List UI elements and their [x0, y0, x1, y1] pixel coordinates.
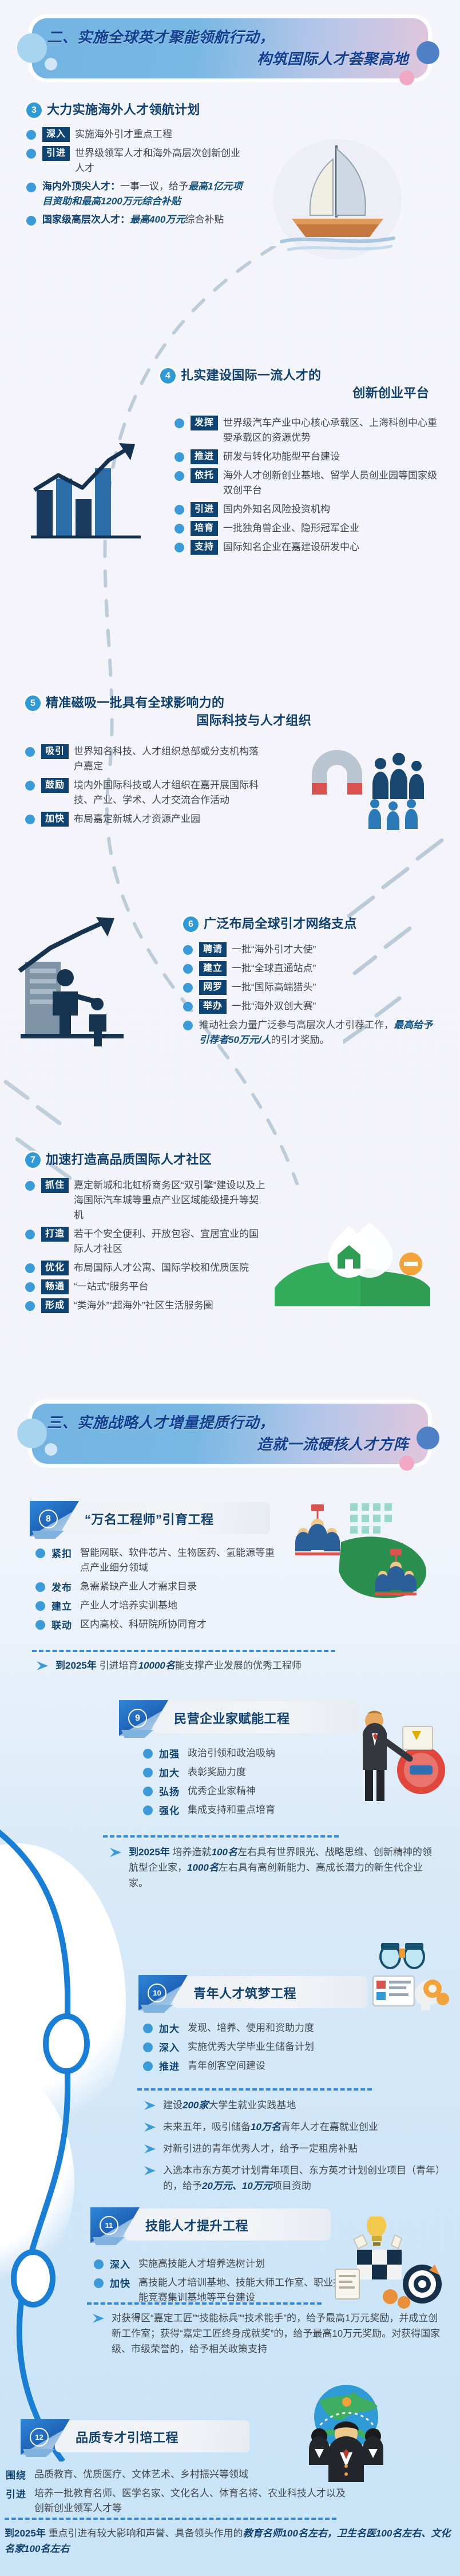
divider-dashed-11 — [87, 2302, 322, 2305]
rows-engineering-11: 深入 实施高技能人才培养选树计划 加快 高技能人才培训基地、技能大师工作室、职业… — [94, 2257, 351, 2309]
goal-tail: 项目资助 — [272, 2180, 311, 2191]
bullet-dot — [26, 183, 36, 192]
row-tag: 弘扬 — [159, 1784, 180, 1798]
row-tag: 加快 — [110, 2275, 130, 2290]
divider-dashed-8 — [32, 1650, 335, 1652]
goal-engineering-8: 到2025年 引进培育10000名能支撑产业发展的优秀工程师 — [35, 1658, 436, 1673]
row-tag: 深入 — [159, 2040, 180, 2054]
bullet-dot — [25, 1301, 35, 1311]
goal-engineering-9: 到2025年 培养造就100名左右具有世界眼光、战略思维、创新精神的领航型企业家… — [109, 1844, 441, 1891]
row-text: 区内高校、科研院所协同育才 — [80, 1617, 207, 1632]
heading-item-3: 3 大力实施海外人才领航计划 — [26, 101, 200, 118]
row-text: 表彰奖励力度 — [188, 1765, 246, 1780]
row-tag: 围绕 — [6, 2467, 26, 2482]
row-text: 实施优秀大学毕业生储备计划 — [188, 2040, 314, 2055]
chevron-right-icon — [143, 2143, 158, 2155]
row-tag: 聘请 — [199, 942, 227, 957]
engineering-number-11: 11 — [100, 2216, 118, 2235]
bullet-dot — [175, 543, 184, 552]
row-text: 一批“全球直通站点” — [232, 961, 316, 976]
chevron-right-icon — [109, 1847, 124, 1858]
divider-dashed-10 — [137, 2088, 372, 2091]
engineering-title-10: 青年人才筑梦工程 — [193, 1984, 296, 2002]
row-tag: 抓住 — [41, 1178, 69, 1193]
bullet-dot — [94, 2278, 104, 2288]
row-tag: 吸引 — [41, 744, 69, 759]
bullet-dot — [35, 1582, 45, 1592]
list-item: 引进 世界级领军人才和海外高层次创新创业人才 — [26, 146, 244, 176]
banner-dot-left — [17, 33, 47, 63]
goal-emphasis: 20万元、10万元 — [202, 2180, 272, 2191]
row-lead: 国家级高层次人才： — [42, 214, 130, 225]
row-tag: 建立 — [199, 961, 227, 976]
goal-emphasis: 10000名 — [138, 1660, 175, 1671]
chevron-right-icon — [143, 2100, 158, 2111]
row-body: 推动社会力量广泛参与高层次人才引荐工作， — [199, 1020, 394, 1030]
divider-dashed-9 — [103, 1835, 339, 1838]
row-tag: 推进 — [191, 449, 218, 464]
list-item: 推进 研发与转化功能型平台建设 — [175, 449, 438, 464]
row-text: 海外人才创新创业基地、留学人员创业园等国家级双创平台 — [223, 468, 438, 498]
chevron-right-icon — [35, 1660, 50, 1672]
chevron-right-icon — [143, 2165, 158, 2176]
engineering-ribbon-tip — [23, 2449, 55, 2457]
bullet-dot — [25, 815, 35, 824]
rows-item-7: 抓住 嘉定新城和北虹桥商务区“双引擎”建设以及上海国际汽车城等重点产业区域能级提… — [25, 1178, 265, 1317]
list-item: 优化 布局国际人才公寓、国际学校和优质医院 — [25, 1261, 265, 1275]
row-tail: 的引才奖励。 — [271, 1034, 330, 1045]
engineering-number-9: 9 — [128, 1709, 147, 1728]
goal-engineering-10-1: 建设200家大学生就业实践基地 — [143, 2097, 441, 2113]
list-item: 加快 布局嘉定新城人才资源产业园 — [25, 812, 265, 827]
list-item: 形成 “类海外”“超海外”社区生活服务圈 — [25, 1298, 265, 1313]
row-text: 国内外知名风险投资机构 — [223, 502, 330, 517]
bullet-dot — [25, 781, 35, 791]
goal-text: 到2025年 引进培育10000名能支撑产业发展的优秀工程师 — [55, 1658, 302, 1673]
row-tag: 深入 — [110, 2257, 130, 2271]
bullet-dot — [94, 2259, 104, 2269]
row-text: 推动社会力量广泛参与高层次人才引荐工作，最高给予引荐者50万元/人的引才奖励。 — [199, 1018, 435, 1048]
list-item: 弘扬 优秀企业家精神 — [143, 1784, 372, 1799]
magnet-people-illustration — [289, 726, 432, 835]
bullet-dot — [175, 524, 184, 534]
goal-body: 培养造就 — [173, 1847, 212, 1858]
list-item: 引进 国内外知名风险投资机构 — [175, 502, 438, 517]
blue-pipe-path — [0, 1820, 132, 2462]
row-text: 一批独角兽企业、隐形冠军企业 — [223, 521, 359, 536]
row-tag: 深入 — [42, 127, 70, 142]
bullet-dot — [25, 1181, 35, 1191]
chevron-right-icon — [92, 2313, 106, 2324]
row-body: 综合补贴 — [185, 214, 224, 225]
rows-engineering-10: 加大 发现、培养、使用和资助力度 深入 实施优秀大学毕业生储备计划 推进 青年创… — [143, 2021, 383, 2077]
rows-item-3: 深入 实施海外引才重点工程 引进 世界级领军人才和海外高层次创新创业人才 海内外… — [26, 127, 244, 231]
row-text: 高技能人才培训基地、技能大师工作室、职业技能竞赛集训基地等平台建设 — [138, 2275, 351, 2305]
goal-year: 到2025年 — [55, 1660, 97, 1671]
bullet-dot — [183, 1021, 193, 1030]
skills-target-illustration — [327, 2217, 447, 2320]
row-text: 培养一批教育名师、医学名家、文化名人、体育名将、农业科技人才以及创新创业领军人才… — [34, 2486, 349, 2516]
engineering-ribbon-tip — [93, 2237, 125, 2245]
bullet-dot — [175, 452, 184, 462]
row-tag: 优化 — [41, 1261, 69, 1275]
heading-item-4: 4 扎实建设国际一流人才的 创新创业平台 — [160, 366, 429, 402]
item-number-6: 6 — [183, 916, 199, 932]
row-lead: 海内外顶尖人才： — [42, 181, 120, 192]
team-network-illustration — [286, 1500, 441, 1609]
engineering-header-8: 8 “万名工程师”引育工程 — [30, 1501, 270, 1536]
list-item: 依托 海外人才创新创业基地、留学人员创业园等国家级双创平台 — [175, 468, 438, 498]
heading-item-6: 6 广泛布局全球引才网络支点 — [183, 915, 357, 933]
list-item: 打造 若干个安全便利、开放包容、宜居宜业的国际人才社区 — [25, 1227, 265, 1257]
goal-body: 重点引进有较大影响和声誉、具备领头作用的 — [49, 2528, 243, 2539]
bullet-dot — [175, 418, 184, 428]
engineering-number-8: 8 — [39, 1510, 58, 1528]
row-tag: 建立 — [51, 1598, 72, 1613]
row-text: 世界级汽车产业中心核心承载区、上海科创中心重要承载区的资源优势 — [223, 416, 438, 445]
decor-blob-left — [0, 1843, 126, 2164]
row-tag: 引进 — [6, 2486, 26, 2500]
engineering-number-10: 10 — [148, 1984, 166, 2002]
row-text: 青年创客空间建设 — [188, 2059, 265, 2073]
row-text: 嘉定新城和北虹桥商务区“双引擎”建设以及上海国际汽车城等重点产业区域能级提升等契… — [74, 1178, 265, 1223]
item-title-5: 精准磁吸一批具有全球影响力的 国际科技与人才组织 — [46, 694, 311, 729]
divider-dashed-12 — [5, 2518, 336, 2520]
item-title-6: 广泛布局全球引才网络支点 — [204, 915, 357, 933]
bullet-dot — [143, 1805, 153, 1815]
decor-blob-left-2 — [0, 2061, 74, 2301]
row-text: 布局嘉定新城人才资源产业园 — [74, 812, 200, 827]
row-text: 一批“国际高端猎头” — [232, 980, 316, 995]
row-text: 布局国际人才公寓、国际学校和优质医院 — [74, 1261, 249, 1275]
engineering-ribbon-tip — [141, 2005, 173, 2013]
section-banner-three: 三、实施战略人才增量提质行动， 造就一流硬核人才方阵 — [32, 1404, 428, 1464]
row-tag: 畅通 — [41, 1279, 69, 1294]
engineering-header-10: 10 青年人才筑梦工程 — [138, 1975, 367, 2010]
row-text: 研发与转化功能型平台建设 — [223, 449, 340, 464]
buildings-network-illustration — [16, 916, 159, 1048]
goal-text: 到2025年 培养造就100名左右具有世界眼光、战略思维、创新精神的领航型企业家… — [129, 1844, 441, 1891]
row-text: 集成支持和重点培育 — [188, 1803, 275, 1818]
row-text: 世界级领军人才和海外高层次创新创业人才 — [75, 146, 244, 176]
row-text: 海内外顶尖人才：一事一议，给予最高1亿元项目资助和最高1200万元综合补贴 — [42, 179, 244, 209]
item-number-7: 7 — [25, 1152, 41, 1168]
row-emphasis: 最高400万元 — [130, 214, 185, 225]
bullet-dot — [35, 1601, 45, 1611]
engineering-header-9: 9 民营企业家赋能工程 — [119, 1700, 359, 1736]
goal-tail: 青年人才在嘉就业创业 — [281, 2121, 378, 2132]
rows-item-5: 吸引 世界知名科技、人才组织总部或分支机构落户嘉定 鼓励 境内外国际科技或人才组… — [25, 744, 265, 831]
list-item: 紧扣 智能网联、软件芯片、生物医药、氢能源等重点产业细分领域 — [35, 1546, 281, 1575]
row-body: 一事一议，给予 — [120, 181, 188, 192]
item-number-5: 5 — [25, 696, 41, 711]
row-tag: 推进 — [159, 2059, 180, 2073]
row-tag: 发挥 — [191, 416, 218, 430]
bullet-dot — [175, 471, 184, 481]
list-item: 深入 实施高技能人才培养选树计划 — [94, 2257, 351, 2271]
row-tag: 引进 — [42, 146, 70, 161]
home-location-illustration — [269, 1202, 435, 1311]
row-tag: 引进 — [191, 502, 218, 517]
row-tag: 加大 — [159, 1765, 180, 1779]
engineering-title-12: 品质专才引培工程 — [76, 2428, 179, 2446]
list-item: 强化 集成支持和重点培育 — [143, 1803, 372, 1818]
goal-engineering-12: 到2025年 重点引进有较大影响和声誉、具备领头作用的教育名师100名左右，卫生… — [5, 2526, 454, 2557]
banner-three-line1: 三、实施战略人才增量提质行动， — [47, 1412, 409, 1433]
row-text: 品质教育、优质医疗、文体艺术、乡村振兴等领域 — [34, 2467, 248, 2482]
banner-two-line2: 构筑国际人才荟聚高地 — [47, 48, 409, 70]
bullet-dot — [143, 2042, 153, 2052]
row-text: 政治引领和政治吸纳 — [188, 1746, 275, 1761]
bullet-dot — [183, 983, 193, 993]
rows-item-6: 聘请 一批“海外引才大使” 建立 一批“全球直通站点” 网罗 一批“国际高端猎头… — [183, 942, 435, 1052]
bullet-dot — [26, 149, 36, 159]
bullet-dot — [183, 1002, 193, 1012]
bullet-dot — [26, 130, 36, 140]
row-tag: 打造 — [41, 1227, 69, 1242]
row-text: 境内外国际科技或人才组织在嘉开展国际科技、产业、学术、人才交流合作活动 — [74, 778, 265, 808]
goal-text: 对新引进的青年优秀人才，给予一定租房补贴 — [163, 2141, 358, 2156]
list-item: 加强 政治引领和政治吸纳 — [143, 1746, 372, 1761]
bullet-dot — [183, 945, 193, 955]
row-text: 若干个安全便利、开放包容、宜居宜业的国际人才社区 — [74, 1227, 265, 1257]
banner-two-line1: 二、实施全球英才聚能领航行动， — [47, 26, 409, 48]
list-item: 举办 一批“海外双创大赛” — [183, 999, 435, 1014]
section-banner-two: 二、实施全球英才聚能领航行动， 构筑国际人才荟聚高地 — [32, 18, 428, 78]
row-text: 一批“海外双创大赛” — [232, 999, 316, 1014]
list-item: 联动 区内高校、科研院所协同育才 — [35, 1617, 281, 1632]
row-tag: 支持 — [191, 540, 218, 555]
row-text: “类海外”“超海外”社区生活服务圈 — [74, 1298, 213, 1313]
list-item: 支持 国际知名企业在嘉建设研发中心 — [175, 540, 438, 555]
list-item: 建立 产业人才培养实训基地 — [35, 1598, 281, 1613]
row-tag: 强化 — [159, 1803, 180, 1817]
banner-text-two: 二、实施全球英才聚能领航行动， 构筑国际人才荟聚高地 — [47, 26, 409, 70]
bullet-dot — [183, 964, 193, 974]
row-text: 实施海外引才重点工程 — [75, 127, 172, 142]
entrepreneur-illustration — [348, 1706, 451, 1809]
goal-body: 引进培育 — [100, 1660, 138, 1671]
goal-tail: 能支撑产业发展的优秀工程师 — [175, 1660, 302, 1671]
banner-text-three: 三、实施战略人才增量提质行动， 造就一流硬核人才方阵 — [47, 1412, 409, 1455]
list-item: 发挥 世界级汽车产业中心核心承载区、上海科创中心重要承载区的资源优势 — [175, 416, 438, 445]
list-item: 海内外顶尖人才：一事一议，给予最高1亿元项目资助和最高1200万元综合补贴 — [26, 180, 244, 209]
list-item: 抓住 嘉定新城和北虹桥商务区“双引擎”建设以及上海国际汽车城等重点产业区域能级提… — [25, 1178, 265, 1223]
row-tag: 举办 — [199, 999, 227, 1014]
bullet-dot — [143, 2061, 153, 2071]
engineering-header-11: 11 技能人才提升工程 — [90, 2207, 331, 2243]
row-tag: 紧扣 — [51, 1546, 72, 1560]
list-item: 吸引 世界知名科技、人才组织总部或分支机构落户嘉定 — [25, 744, 265, 774]
row-tag: 鼓励 — [41, 778, 69, 793]
row-tag: 培育 — [191, 521, 218, 536]
sailboat-illustration — [269, 132, 406, 263]
item-title-3: 大力实施海外人才领航计划 — [47, 101, 200, 118]
engineering-title-11: 技能人才提升工程 — [145, 2216, 248, 2234]
row-text: 产业人才培养实训基地 — [80, 1598, 177, 1613]
bullet-dot — [143, 2024, 153, 2033]
engineering-title-9: 民营企业家赋能工程 — [174, 1709, 290, 1727]
row-text: “一站式”服务平台 — [74, 1279, 148, 1294]
row-text: 世界知名科技、人才组织总部或分支机构落户嘉定 — [74, 744, 265, 774]
row-text: 国际知名企业在嘉建设研发中心 — [223, 540, 359, 555]
goal-engineering-10-2: 未来五年，吸引储备10万名青年人才在嘉就业创业 — [143, 2119, 452, 2135]
row-text: 优秀企业家精神 — [188, 1784, 256, 1799]
banner-dot-left — [17, 1419, 47, 1448]
list-item: 推进 青年创客空间建设 — [143, 2059, 383, 2073]
goal-year: 到2025年 — [129, 1847, 170, 1858]
youth-idea-illustration — [366, 1942, 452, 2028]
bullet-dot — [143, 1749, 153, 1759]
growth-chart-illustration — [23, 435, 149, 550]
list-item: 畅通 “一站式”服务平台 — [25, 1279, 265, 1294]
bullet-dot — [175, 505, 184, 515]
banner-dot-right — [417, 1427, 439, 1449]
row-text: 智能网联、软件芯片、生物医药、氢能源等重点产业细分领域 — [80, 1546, 281, 1575]
goal-emphasis: 100名 — [212, 1847, 237, 1858]
bullet-dot — [26, 216, 36, 226]
bullet-dot — [143, 1768, 153, 1777]
goal-text: 入选本市东方英才计划青年项目、东方英才计划创业项目（青年）的，给予20万元、10… — [163, 2163, 441, 2194]
globe-talent-illustration — [292, 2381, 400, 2484]
row-text: 实施高技能人才培养选树计划 — [138, 2257, 265, 2271]
banner-dot-pink — [399, 70, 414, 85]
bullet-dot — [25, 1230, 35, 1239]
list-item: 聘请 一批“海外引才大使” — [183, 942, 435, 957]
list-item: 深入 实施优秀大学毕业生储备计划 — [143, 2040, 383, 2055]
row-tag: 形成 — [41, 1298, 69, 1313]
goal-text: 未来五年，吸引储备10万名青年人才在嘉就业创业 — [163, 2119, 378, 2135]
list-item: 加大 发现、培养、使用和资助力度 — [143, 2021, 383, 2036]
engineering-title-8: “万名工程师”引育工程 — [85, 1510, 214, 1528]
list-item: 鼓励 境内外国际科技或人才组织在嘉开展国际科技、产业、学术、人才交流合作活动 — [25, 778, 265, 808]
rows-engineering-8: 紧扣 智能网联、软件芯片、生物医药、氢能源等重点产业细分领域 发布 急需紧缺产业… — [35, 1546, 281, 1636]
goal-emphasis: 10万名 — [251, 2121, 281, 2132]
goal-emphasis-2: 1000名 — [187, 1862, 219, 1873]
rows-item-4: 发挥 世界级汽车产业中心核心承载区、上海科创中心重要承载区的资源优势 推进 研发… — [175, 416, 438, 559]
engineering-header-12: 12 品质专才引培工程 — [21, 2419, 249, 2455]
heading-item-5: 5 精准磁吸一批具有全球影响力的 国际科技与人才组织 — [25, 694, 311, 729]
rows-engineering-9: 加强 政治引领和政治吸纳 加大 表彰奖励力度 弘扬 优秀企业家精神 强化 集成支… — [143, 1746, 372, 1822]
list-item: 引进 培养一批教育名师、医学名家、文化名人、体育名将、农业科技人才以及创新创业领… — [6, 2486, 349, 2516]
engineering-ribbon-tip — [32, 1531, 64, 1539]
item-title-7: 加速打造高品质国际人才社区 — [46, 1151, 212, 1168]
list-item: 国家级高层次人才：最高400万元综合补贴 — [26, 213, 244, 227]
list-item: 加大 表彰奖励力度 — [143, 1765, 372, 1780]
list-item: 网罗 一批“国际高端猎头” — [183, 980, 435, 995]
list-item: 加快 高技能人才培训基地、技能大师工作室、职业技能竞赛集训基地等平台建设 — [94, 2275, 351, 2305]
goal-text: 建设200家大学生就业实践基地 — [163, 2097, 296, 2113]
list-item: 发布 急需紧缺产业人才需求目录 — [35, 1579, 281, 1594]
goal-engineering-10-3: 对新引进的青年优秀人才，给予一定租房补贴 — [143, 2141, 441, 2156]
row-tag: 加快 — [41, 812, 69, 827]
banner-three-line2: 造就一流硬核人才方阵 — [47, 1433, 409, 1455]
goal-body: 建设 — [163, 2100, 183, 2111]
banner-dot-pink — [399, 1456, 414, 1471]
engineering-number-12: 12 — [30, 2428, 49, 2447]
bullet-dot — [25, 1263, 35, 1273]
row-tag: 加大 — [159, 2021, 180, 2035]
bullet-dot — [35, 1620, 45, 1630]
row-text: 一批“海外引才大使” — [232, 942, 316, 957]
row-text: 急需紧缺产业人才需求目录 — [80, 1579, 197, 1594]
row-text: 国家级高层次人才：最高400万元综合补贴 — [42, 212, 224, 227]
bullet-dot — [35, 1548, 45, 1558]
goal-text: 到2025年 重点引进有较大影响和声誉、具备领头作用的教育名师100名左右，卫生… — [5, 2526, 454, 2557]
row-tag: 发布 — [51, 1579, 72, 1594]
list-item: 推动社会力量广泛参与高层次人才引荐工作，最高给予引荐者50万元/人的引才奖励。 — [183, 1018, 435, 1048]
item-number-4: 4 — [160, 368, 176, 384]
list-item: 培育 一批独角兽企业、隐形冠军企业 — [175, 521, 438, 536]
goal-engineering-10-4: 入选本市东方英才计划青年项目、东方英才计划创业项目（青年）的，给予20万元、10… — [143, 2163, 441, 2194]
row-text: 发现、培养、使用和资助力度 — [188, 2021, 314, 2036]
goal-tail: 大学生就业实践基地 — [208, 2100, 296, 2111]
bullet-dot — [143, 1787, 153, 1796]
engineering-ribbon-tip — [121, 1730, 153, 1738]
row-tag: 联动 — [51, 1617, 72, 1631]
banner-dot-right — [417, 41, 439, 64]
list-item: 建立 一批“全球直通站点” — [183, 961, 435, 976]
row-tag: 加强 — [159, 1746, 180, 1760]
goal-emphasis: 200家 — [183, 2100, 208, 2111]
list-item: 深入 实施海外引才重点工程 — [26, 127, 244, 142]
heading-item-7: 7 加速打造高品质国际人才社区 — [25, 1151, 212, 1168]
row-tag: 网罗 — [199, 980, 227, 995]
bullet-dot — [25, 1282, 35, 1292]
row-tag: 依托 — [191, 468, 218, 483]
item-number-3: 3 — [26, 102, 42, 118]
goal-body: 未来五年，吸引储备 — [163, 2121, 251, 2132]
chevron-right-icon — [143, 2121, 158, 2133]
goal-year: 到2025年 — [5, 2528, 46, 2539]
item-title-4: 扎实建设国际一流人才的 创新创业平台 — [181, 366, 429, 402]
bullet-dot — [25, 747, 35, 757]
